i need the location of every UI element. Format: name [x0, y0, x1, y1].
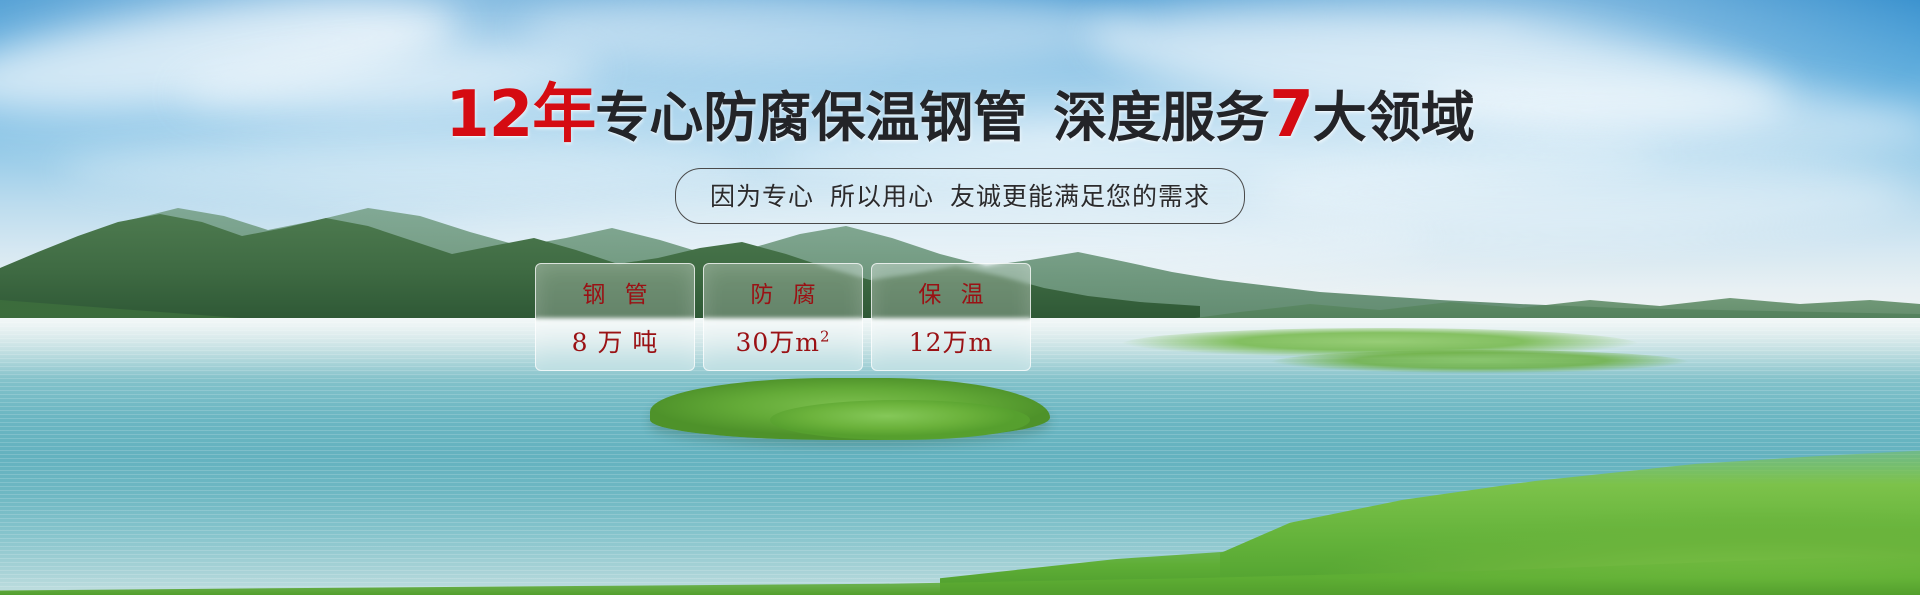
subtitle-part-two: 所以用心 [830, 182, 934, 211]
subtitle-part-one: 因为专心 [710, 182, 814, 211]
stat-card-insulation[interactable]: 保 温 12万m [871, 263, 1031, 371]
stat-card-value-sup: 2 [820, 328, 831, 346]
stat-card-value: 12万m [909, 323, 994, 359]
subtitle-part-three: 友诚更能满足您的需求 [950, 182, 1210, 211]
stat-card-value: 8 万 吨 [572, 323, 659, 359]
hero-banner: 12年专心防腐保温钢管深度服务7大领域 因为专心所以用心友诚更能满足您的需求 钢… [0, 0, 1920, 595]
grass-island-secondary [770, 400, 1030, 440]
stat-card-value-text: 8 万 吨 [572, 328, 659, 357]
headline-years-number: 12 [445, 78, 532, 152]
headline-phrase-two: 深度服务 [1053, 86, 1269, 149]
stat-card-label: 防 腐 [744, 275, 821, 309]
stat-cards: 钢 管 8 万 吨 防 腐 30万m2 保 温 12万m [535, 263, 1031, 371]
headline-fields-number: 7 [1269, 78, 1313, 152]
grass-strip-mid [1270, 350, 1690, 376]
stat-card-value-text: 30万m [735, 328, 820, 357]
stat-card-steel-pipe[interactable]: 钢 管 8 万 吨 [535, 263, 695, 371]
headline-phrase-one: 专心防腐保温钢管 [595, 86, 1027, 149]
stat-card-anticorrosion[interactable]: 防 腐 30万m2 [703, 263, 863, 371]
cloud-icon [520, 0, 1140, 68]
headline-years-unit: 年 [532, 78, 595, 152]
subtitle-container: 因为专心所以用心友诚更能满足您的需求 [0, 168, 1920, 224]
stat-card-value-text: 12万m [909, 328, 994, 357]
stat-card-label: 保 温 [912, 275, 989, 309]
headline-phrase-three: 大领域 [1313, 86, 1475, 149]
stat-card-label: 钢 管 [576, 275, 653, 309]
subtitle-pill: 因为专心所以用心友诚更能满足您的需求 [675, 168, 1245, 224]
stat-card-value: 30万m2 [735, 323, 830, 359]
headline: 12年专心防腐保温钢管深度服务7大领域 [0, 83, 1920, 147]
